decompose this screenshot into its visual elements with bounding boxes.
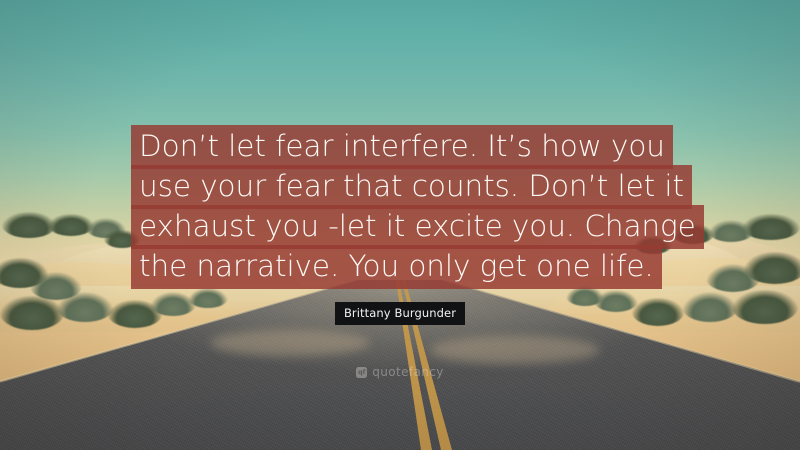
watermark-text: quotefancy — [372, 365, 444, 379]
shrub — [708, 220, 754, 242]
quote-line-text: exhaust you -let it excite you. Change — [131, 205, 704, 249]
quote-line: exhaust you -let it excite you. Change — [131, 206, 691, 246]
sand-drift — [430, 336, 600, 364]
quotefancy-logo-icon: qf — [356, 367, 367, 378]
quote-line-text: the narrative. You only get one life. — [131, 245, 662, 289]
quote-block: Don’t let fear interfere. It’s how you u… — [131, 126, 691, 286]
quote-wallpaper: Don’t let fear interfere. It’s how you u… — [0, 0, 800, 450]
sand-drift — [210, 330, 370, 356]
quote-line-text: Don’t let fear interfere. It’s how you — [131, 125, 673, 169]
quote-line: the narrative. You only get one life. — [131, 246, 691, 286]
quote-line-text: use your fear that counts. Don’t let it — [131, 165, 692, 209]
author-attribution: Brittany Burgunder — [0, 302, 800, 325]
quote-line: use your fear that counts. Don’t let it — [131, 166, 691, 206]
watermark: qf quotefancy — [0, 365, 800, 379]
shrub — [706, 264, 760, 292]
quote-line: Don’t let fear interfere. It’s how you — [131, 126, 691, 166]
author-name: Brittany Burgunder — [335, 302, 465, 325]
